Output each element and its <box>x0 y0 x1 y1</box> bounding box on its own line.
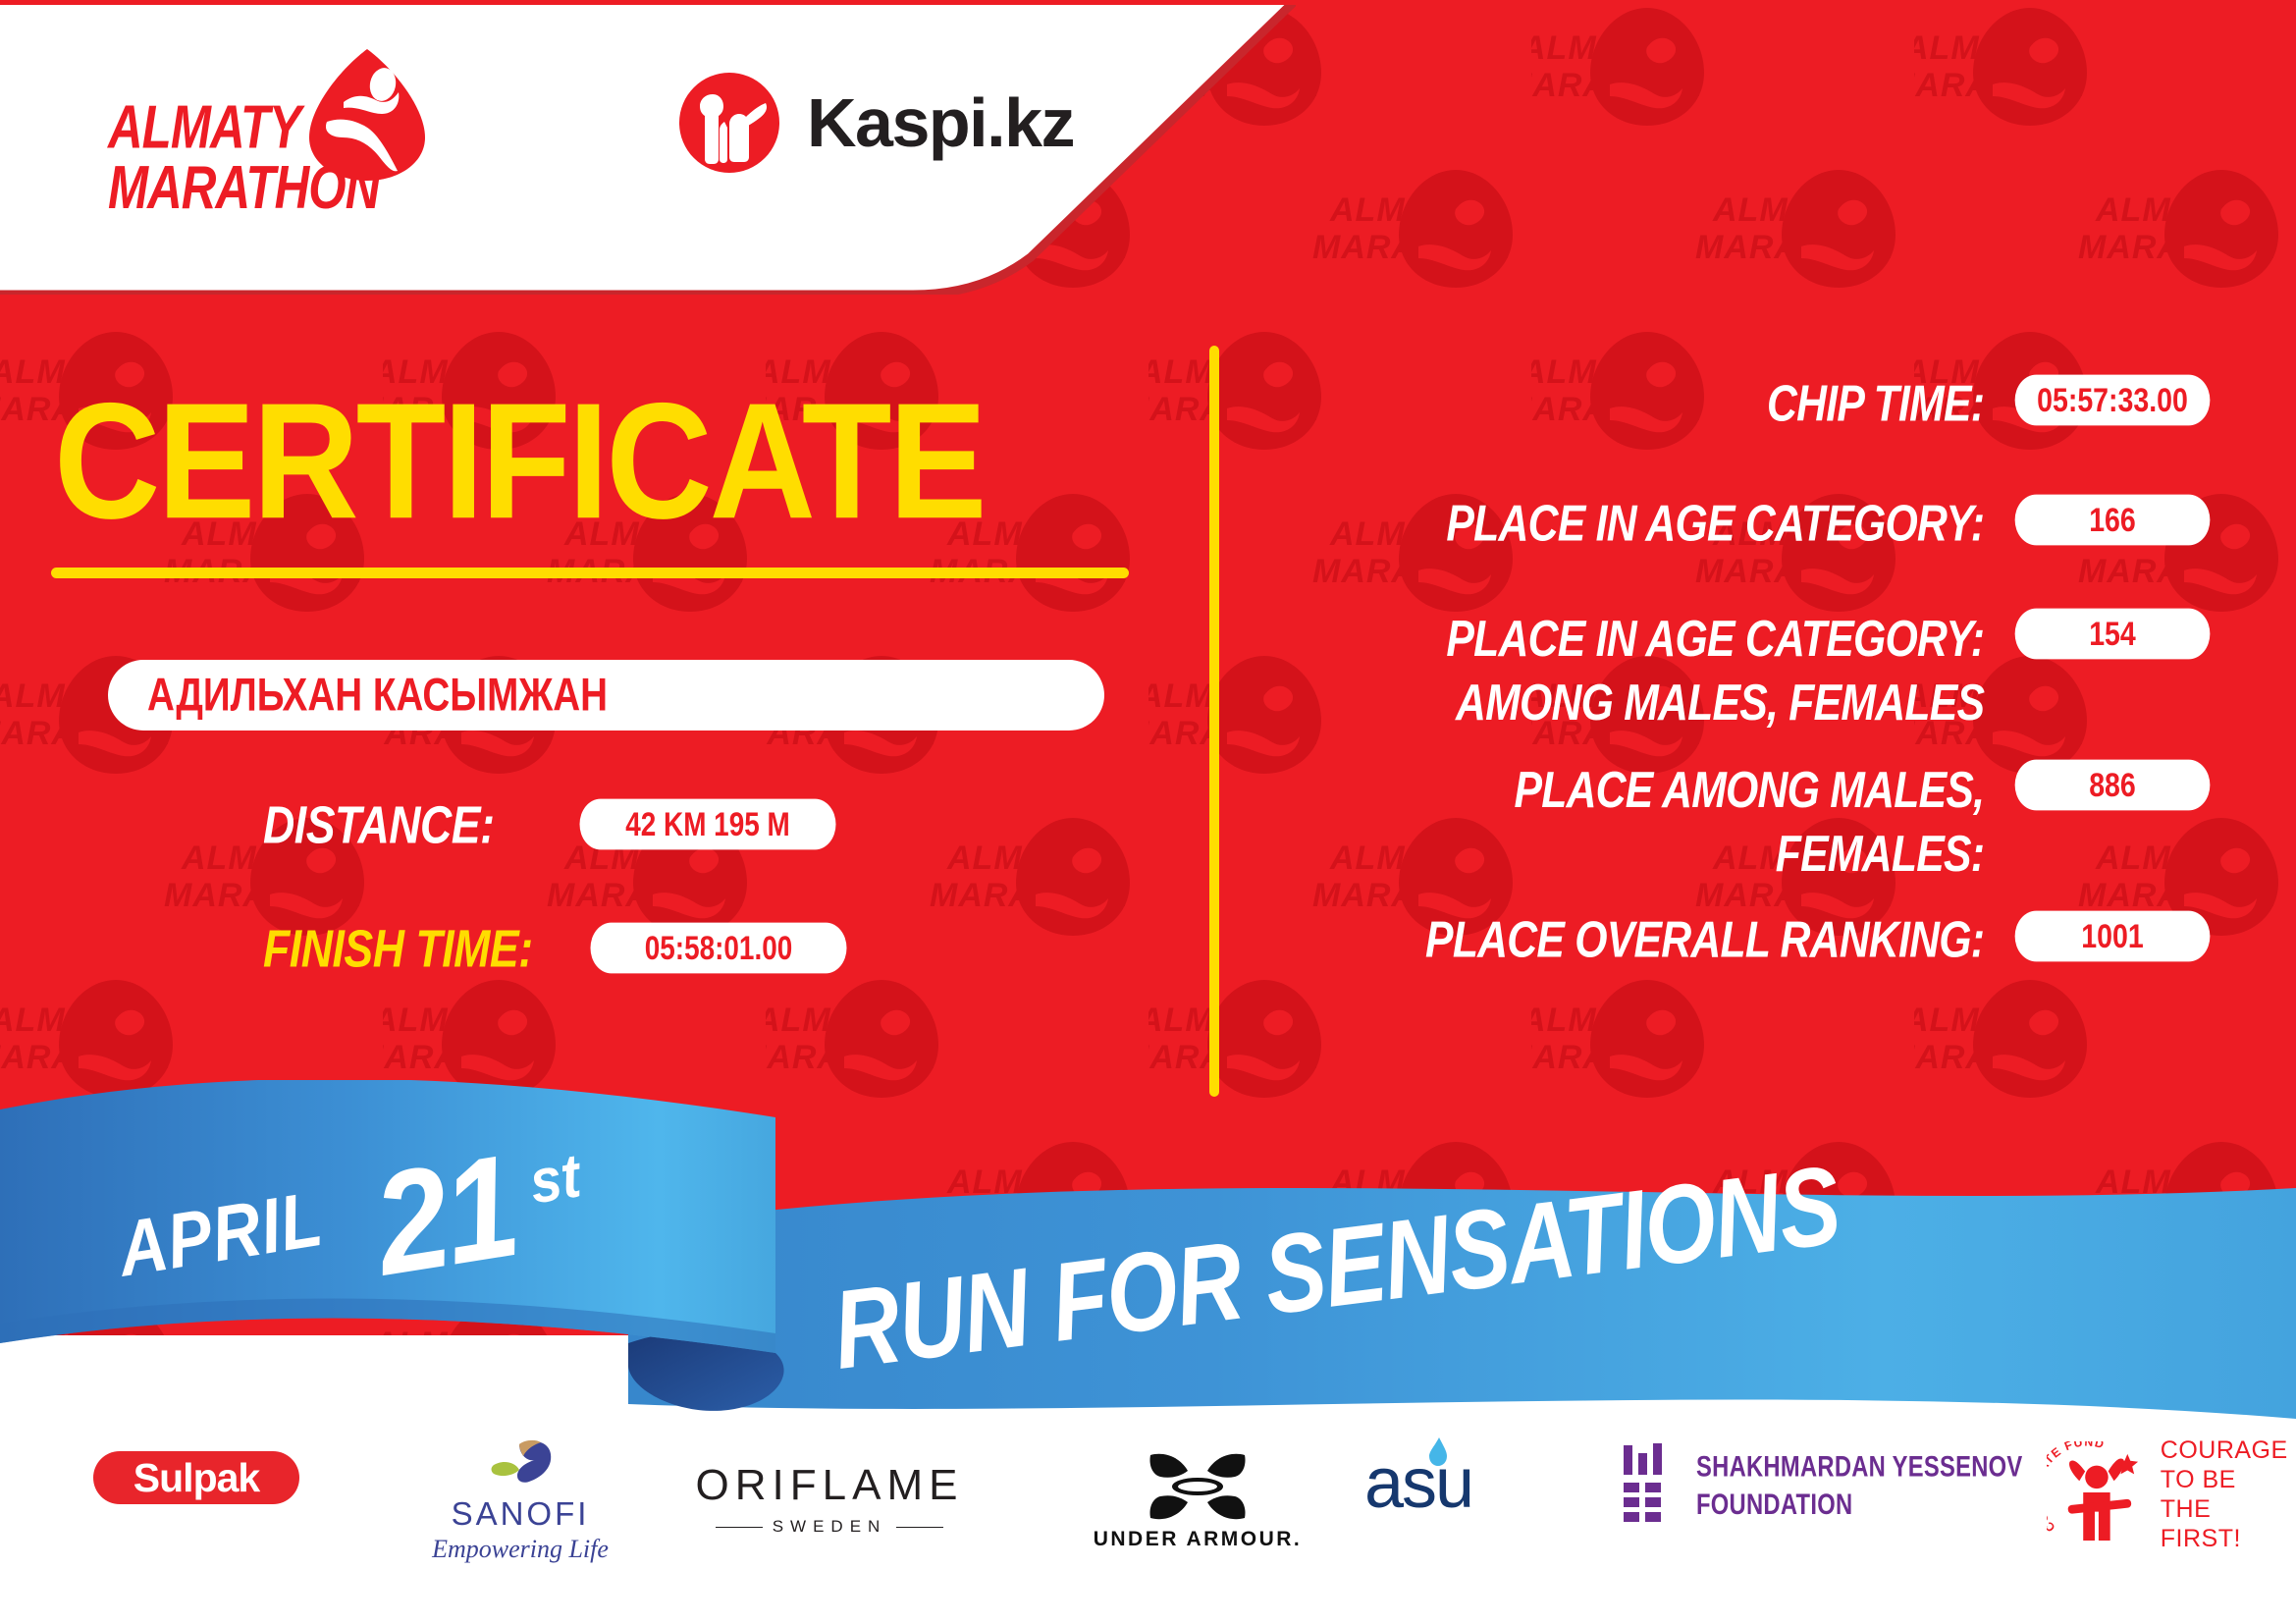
rule-right <box>896 1527 943 1528</box>
courage-fund-icon: CORPORATE FUND <box>2047 1441 2153 1547</box>
chip-time-label: CHIP TIME: <box>1312 373 2006 433</box>
almaty-line-1: ALMATY <box>108 93 300 162</box>
header-logos: ALMATY MARATHON Kaspi.kz <box>0 0 1296 250</box>
yessenov-wordmark: SHAKHMARDAN YESSENOV FOUNDATION <box>1696 1448 2023 1524</box>
distance-value: 42 KM 195 M <box>579 799 835 850</box>
under-armour-wordmark: UNDER ARMOUR. <box>1090 1528 1306 1551</box>
label-line-2: AMONG MALES, FEMALES <box>1312 671 1984 734</box>
running-drop-icon <box>307 47 427 183</box>
stat-row-place-among-gender: PLACE AMONG MALES, FEMALES: 886 <box>1276 758 2218 868</box>
kaspi-logo: Kaspi.kz <box>677 71 1074 175</box>
stat-row-place-age-category-gender: PLACE IN AGE CATEGORY: AMONG MALES, FEMA… <box>1276 607 2218 717</box>
sanofi-tagline: Empowering Life <box>412 1535 628 1564</box>
finish-time-value: 05:58:01.00 <box>591 923 847 974</box>
sponsor-asu-logo: asu <box>1364 1443 1472 1524</box>
certificate-page: ALMATY MARATHON ALMATY MARATHON CERTIFIC… <box>0 0 2296 1624</box>
stats-column: CHIP TIME: 05:57:33.00 PLACE IN AGE CATE… <box>1276 373 2218 1001</box>
place-among-gender-label: PLACE AMONG MALES, FEMALES: <box>1312 758 2006 886</box>
sponsor-sanofi-logo: SANOFI Empowering Life <box>412 1438 628 1564</box>
finish-time-label: FINISH TIME: <box>263 917 533 979</box>
sponsor-sulpak-logo: Sulpak <box>93 1451 299 1504</box>
sponsor-under-armour-logo: UNDER ARMOUR. <box>1090 1451 1306 1551</box>
participant-name: АДИЛЬХАН КАСЫМЖАН <box>147 669 608 722</box>
almaty-marathon-logo: ALMATY MARATHON <box>108 47 432 194</box>
ribbon-day: 21 <box>364 1122 527 1308</box>
stat-row-place-age-category: PLACE IN AGE CATEGORY: 166 <box>1276 493 2218 560</box>
yessenov-line-2: FOUNDATION <box>1696 1486 2023 1523</box>
stat-row-place-overall: PLACE OVERALL RANKING: 1001 <box>1276 909 2218 976</box>
courage-line-2: TO BE <box>2161 1465 2296 1494</box>
sanofi-wordmark: SANOFI <box>412 1495 628 1533</box>
participant-name-field: АДИЛЬХАН КАСЫМЖАН <box>108 660 1104 731</box>
label-line-1: PLACE IN AGE CATEGORY: <box>1312 607 1984 671</box>
distance-label: DISTANCE: <box>263 793 495 855</box>
label-line-1: PLACE AMONG MALES, <box>1312 758 1984 822</box>
stat-row-chip-time: CHIP TIME: 05:57:33.00 <box>1276 373 2218 440</box>
asu-wordmark: asu <box>1364 1443 1472 1524</box>
kaspi-wordmark: Kaspi.kz <box>807 83 1074 162</box>
ribbon-day-ordinal: st <box>525 1140 585 1218</box>
place-among-gender-value: 886 <box>2015 760 2211 811</box>
sponsor-oriflame-logo: ORIFLAME SWEDEN <box>687 1461 972 1537</box>
distance-row: DISTANCE: 42 KM 195 M <box>263 797 850 851</box>
courage-wordmark: COURAGE TO BE THE FIRST! <box>2161 1435 2296 1553</box>
courage-line-1: COURAGE <box>2161 1435 2296 1465</box>
oriflame-wordmark: ORIFLAME <box>687 1461 972 1510</box>
rule-left <box>716 1527 763 1528</box>
finish-time-row: FINISH TIME: 05:58:01.00 <box>263 921 861 975</box>
label-line-2: FEMALES: <box>1312 822 1984 886</box>
yessenov-mark-icon <box>1620 1443 1675 1528</box>
sponsor-courage-fund-logo: CORPORATE FUND COURAGE TO BE THE FIRST! <box>2047 1435 2296 1553</box>
column-divider <box>1209 346 1219 1097</box>
yessenov-line-1: SHAKHMARDAN YESSENOV <box>1696 1448 2023 1486</box>
place-age-category-label: PLACE IN AGE CATEGORY: <box>1312 493 2006 553</box>
place-overall-label: PLACE OVERALL RANKING: <box>1312 909 2006 969</box>
title-underline <box>51 568 1129 578</box>
place-overall-value: 1001 <box>2015 911 2211 962</box>
oriflame-country: SWEDEN <box>773 1517 887 1537</box>
under-armour-icon <box>1145 1451 1251 1522</box>
courage-line-3: THE FIRST! <box>2161 1494 2296 1553</box>
asu-text: asu <box>1364 1444 1472 1523</box>
page-title: CERTIFICATE <box>54 378 985 543</box>
asu-droplet-icon <box>1427 1435 1449 1469</box>
kaspi-family-circle-icon <box>677 71 781 175</box>
chip-time-value: 05:57:33.00 <box>2015 375 2211 426</box>
oriflame-sub: SWEDEN <box>687 1517 972 1537</box>
place-age-category-gender-label: PLACE IN AGE CATEGORY: AMONG MALES, FEMA… <box>1312 607 2006 734</box>
place-age-category-value: 166 <box>2015 495 2211 546</box>
sponsor-yessenov-logo: SHAKHMARDAN YESSENOV FOUNDATION <box>1620 1443 2040 1528</box>
sanofi-mark-icon <box>480 1438 561 1493</box>
place-age-category-gender-value: 154 <box>2015 609 2211 660</box>
